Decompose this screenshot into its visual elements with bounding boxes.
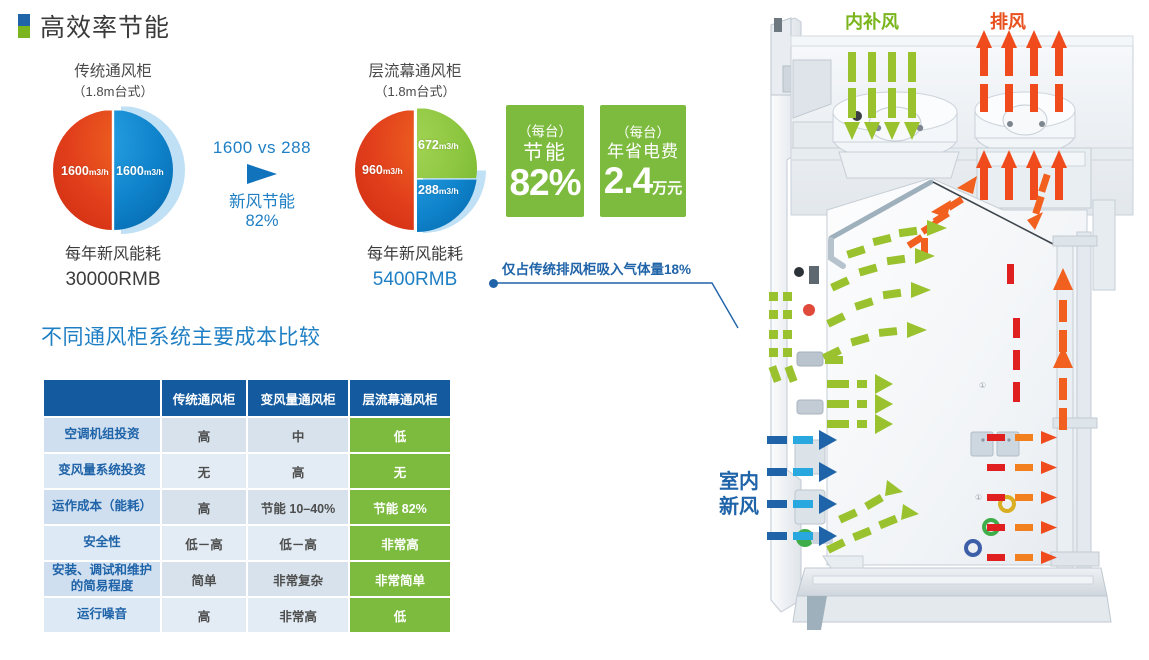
row-label: 变风量系统投资: [44, 454, 160, 488]
pie-right-label-960: 960m3/h: [362, 163, 403, 177]
pie-right: 960m3/h 672m3/h 288m3/h: [355, 110, 475, 230]
badge-energy-unit: （每台）: [518, 120, 572, 140]
chart-left-foot-value: 30000RMB: [0, 267, 228, 294]
chart-left-foot-label: 每年新风能耗: [0, 244, 228, 266]
badge-energy-label: 节能: [523, 142, 567, 164]
row-cell: 低－高: [162, 526, 246, 560]
chart-right-sub: （1.8m台式）: [300, 83, 530, 101]
bullet-square-icon: [18, 14, 30, 38]
table-header-1: 传统通风柜: [162, 380, 246, 416]
cost-comparison-table: 传统通风柜 变风量通风柜 层流幕通风柜 空调机组投资 高 中 低 变风量系统投资…: [42, 378, 452, 634]
chart-left-traditional: 传统通风柜 （1.8m台式） 1600m3/h 1600m3/h 每年新风能耗 …: [0, 62, 228, 293]
label-exhaust-air: 排风: [990, 8, 1026, 34]
row-cell: 中: [248, 418, 348, 452]
svg-text:①: ①: [979, 381, 986, 390]
row-cell: 非常复杂: [248, 562, 348, 596]
pie-right-label-672: 672m3/h: [418, 138, 459, 152]
row-cell: 节能 10–40%: [248, 490, 348, 524]
table-row: 安装、调试和维护的简易程度 简单 非常复杂 非常简单: [44, 562, 450, 596]
row-cell: 简单: [162, 562, 246, 596]
table-header-2: 变风量通风柜: [248, 380, 348, 416]
label-indoor-line1: 室内: [719, 470, 759, 495]
pie-left-label-2: 1600m3/h: [116, 164, 164, 178]
table-row: 运作成本（能耗） 高 节能 10–40% 节能 82%: [44, 490, 450, 524]
row-cell: 低－高: [248, 526, 348, 560]
pie-left: 1600m3/h 1600m3/h: [53, 110, 173, 230]
row-label: 安全性: [44, 526, 160, 560]
label-supply-air: 内补风: [845, 8, 899, 34]
table-row: 运行噪音 高 非常高 低: [44, 598, 450, 632]
row-cell: 高: [162, 490, 246, 524]
row-label: 运作成本（能耗）: [44, 490, 160, 524]
row-cell-highlight: 非常高: [350, 526, 450, 560]
row-cell: 高: [162, 418, 246, 452]
fume-hood-illustration: ① ①: [735, 0, 1149, 660]
row-cell-highlight: 节能 82%: [350, 490, 450, 524]
table-row: 安全性 低－高 低－高 非常高: [44, 526, 450, 560]
label-indoor-line2: 新风: [719, 495, 759, 520]
pie-left-label-1: 1600m3/h: [61, 164, 109, 178]
chart-left-footer: 每年新风能耗 30000RMB: [0, 244, 228, 293]
row-label: 安装、调试和维护的简易程度: [44, 562, 160, 596]
row-cell-highlight: 低: [350, 598, 450, 632]
table-header-row: 传统通风柜 变风量通风柜 层流幕通风柜: [44, 380, 450, 416]
page-title: 高效率节能: [40, 8, 170, 44]
page-header: 高效率节能: [18, 8, 170, 44]
table-row: 变风量系统投资 无 高 无: [44, 454, 450, 488]
row-cell-highlight: 非常简单: [350, 562, 450, 596]
infographic-page: 高效率节能 传统通风柜 （1.8m台式） 1600m3/h 1600m3/h 每…: [0, 0, 1149, 660]
badge-savings-unit: （每台）: [616, 121, 670, 141]
table-header-3: 层流幕通风柜: [350, 380, 450, 416]
table-title: 不同通风柜系统主要成本比较: [41, 321, 321, 351]
table-header-0: [44, 380, 160, 416]
row-label: 空调机组投资: [44, 418, 160, 452]
badge-energy-value: 82%: [509, 164, 580, 203]
badge-energy-saving: （每台） 节能 82%: [506, 105, 584, 217]
badge-savings-value: 2.4万元: [604, 162, 682, 201]
label-indoor-fresh-air: 室内 新风: [719, 470, 759, 520]
row-cell-highlight: 低: [350, 418, 450, 452]
svg-text:①: ①: [975, 493, 982, 502]
arrow-right-icon: [247, 164, 277, 184]
pie-right-label-288: 288m3/h: [418, 183, 459, 197]
row-cell-highlight: 无: [350, 454, 450, 488]
row-label: 运行噪音: [44, 598, 160, 632]
table-row: 空调机组投资 高 中 低: [44, 418, 450, 452]
badge-yearly-savings: （每台） 年省电费 2.4万元: [600, 105, 686, 217]
chart-right-caption: 层流幕通风柜 （1.8m台式）: [300, 62, 530, 100]
row-cell: 非常高: [248, 598, 348, 632]
chart-left-sub: （1.8m台式）: [0, 83, 228, 101]
row-cell: 高: [162, 598, 246, 632]
row-cell: 高: [248, 454, 348, 488]
chart-left-caption: 传统通风柜 （1.8m台式）: [0, 62, 228, 100]
fume-hood-diagram: ① ①: [735, 0, 1149, 660]
row-cell: 无: [162, 454, 246, 488]
chart-left-name: 传统通风柜: [0, 62, 228, 83]
chart-right-name: 层流幕通风柜: [300, 62, 530, 83]
